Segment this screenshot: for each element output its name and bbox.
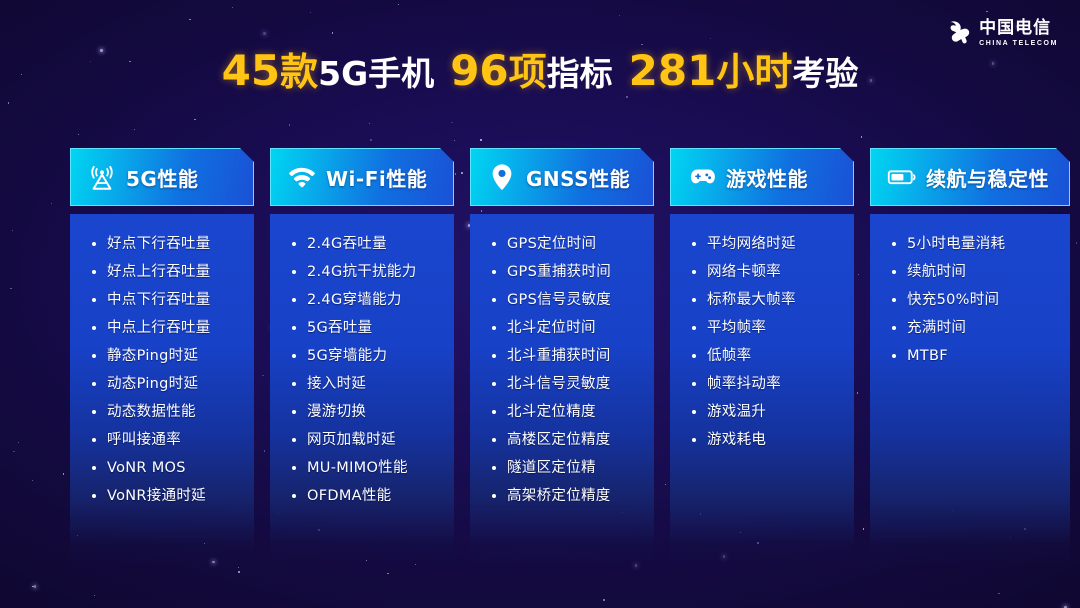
bullet-icon bbox=[92, 410, 96, 414]
star-decoration bbox=[189, 19, 190, 20]
bullet-icon bbox=[292, 270, 296, 274]
star-decoration bbox=[238, 567, 239, 568]
list-item-label: 北斗信号灵敏度 bbox=[507, 376, 611, 392]
star-decoration bbox=[78, 134, 79, 135]
star-decoration bbox=[51, 203, 52, 204]
list-item: MTBF bbox=[870, 348, 1070, 364]
star-decoration bbox=[263, 32, 265, 34]
bullet-icon bbox=[292, 298, 296, 302]
star-decoration bbox=[454, 140, 455, 141]
bullet-icon bbox=[692, 382, 696, 386]
list-item-label: 网页加载时延 bbox=[307, 432, 396, 448]
star-decoration bbox=[13, 451, 14, 452]
title-count-models: 45 bbox=[222, 46, 280, 95]
column-header-label: GNSS性能 bbox=[526, 163, 630, 192]
bullet-icon bbox=[692, 270, 696, 274]
column-body-5g: 好点下行吞吐量好点上行吞吐量中点下行吞吐量中点上行吞吐量静态Ping时延动态Pi… bbox=[70, 214, 254, 566]
list-item: 充满时间 bbox=[870, 320, 1070, 336]
slide-canvas: 中国电信 CHINA TELECOM 45款5G手机96项指标281小时考验 5… bbox=[0, 0, 1080, 608]
bullet-icon bbox=[692, 326, 696, 330]
column-header-label: 5G性能 bbox=[126, 163, 198, 192]
bullet-icon bbox=[492, 242, 496, 246]
category-column-battery: 续航与稳定性5小时电量消耗续航时间快充50%时间充满时间MTBF bbox=[870, 148, 1070, 566]
list-item-label: 动态Ping时延 bbox=[107, 376, 198, 392]
star-decoration bbox=[289, 124, 290, 125]
bullet-icon bbox=[692, 298, 696, 302]
list-item: 北斗定位时间 bbox=[470, 320, 654, 336]
list-item-label: GPS重捕获时间 bbox=[507, 264, 611, 280]
column-body-game: 平均网络时延网络卡顿率标称最大帧率平均帧率低帧率帧率抖动率游戏温升游戏耗电 bbox=[670, 214, 854, 566]
star-decoration bbox=[1076, 242, 1077, 243]
list-item: 2.4G吞吐量 bbox=[270, 236, 454, 252]
star-decoration bbox=[998, 593, 999, 594]
list-item: 平均帧率 bbox=[670, 320, 854, 336]
list-item: 5小时电量消耗 bbox=[870, 236, 1070, 252]
bullet-icon bbox=[892, 298, 896, 302]
star-decoration bbox=[370, 139, 371, 140]
bullet-icon bbox=[492, 494, 496, 498]
star-decoration bbox=[63, 473, 64, 474]
bullet-icon bbox=[292, 382, 296, 386]
list-item-label: MTBF bbox=[907, 348, 948, 364]
list-item: 续航时间 bbox=[870, 264, 1070, 280]
list-item-label: 5G穿墙能力 bbox=[307, 348, 387, 364]
star-decoration bbox=[34, 585, 36, 587]
category-column-game: 游戏性能平均网络时延网络卡顿率标称最大帧率平均帧率低帧率帧率抖动率游戏温升游戏耗… bbox=[670, 148, 854, 566]
bullet-icon bbox=[92, 438, 96, 442]
category-column-5g: 5G性能好点下行吞吐量好点上行吞吐量中点下行吞吐量中点上行吞吐量静态Ping时延… bbox=[70, 148, 254, 566]
title-label-test: 考验 bbox=[792, 54, 858, 93]
star-decoration bbox=[32, 586, 33, 587]
column-header-game[interactable]: 游戏性能 bbox=[670, 148, 854, 206]
list-item-label: VoNR接通时延 bbox=[107, 488, 206, 504]
list-item: 5G穿墙能力 bbox=[270, 348, 454, 364]
list-item-label: 北斗重捕获时间 bbox=[507, 348, 611, 364]
logo-wordmark: 中国电信 CHINA TELECOM bbox=[979, 20, 1058, 47]
list-item-label: GPS信号灵敏度 bbox=[507, 292, 611, 308]
list-item: 好点下行吞吐量 bbox=[70, 236, 254, 252]
list-item: OFDMA性能 bbox=[270, 488, 454, 504]
star-decoration bbox=[134, 129, 135, 130]
list-item: 2.4G穿墙能力 bbox=[270, 292, 454, 308]
bullet-icon bbox=[492, 298, 496, 302]
list-item: 平均网络时延 bbox=[670, 236, 854, 252]
list-item: VoNR接通时延 bbox=[70, 488, 254, 504]
list-item: VoNR MOS bbox=[70, 460, 254, 476]
list-item-label: 5G吞吐量 bbox=[307, 320, 372, 336]
list-item-label: 续航时间 bbox=[907, 264, 966, 280]
china-telecom-logo: 中国电信 CHINA TELECOM bbox=[946, 16, 1058, 50]
star-decoration bbox=[369, 123, 370, 124]
list-item: 北斗定位精度 bbox=[470, 404, 654, 420]
list-item: 高架桥定位精度 bbox=[470, 488, 654, 504]
star-decoration bbox=[18, 442, 19, 443]
list-item: MU-MIMO性能 bbox=[270, 460, 454, 476]
list-item-label: 5小时电量消耗 bbox=[907, 236, 1005, 252]
cell-tower-signal-icon bbox=[87, 162, 117, 192]
column-header-label: 续航与稳定性 bbox=[926, 163, 1049, 192]
list-item: 高楼区定位精度 bbox=[470, 432, 654, 448]
star-decoration bbox=[451, 122, 452, 123]
column-header-battery[interactable]: 续航与稳定性 bbox=[870, 148, 1070, 206]
bullet-icon bbox=[692, 410, 696, 414]
star-decoration bbox=[10, 288, 11, 289]
bullet-icon bbox=[92, 382, 96, 386]
list-item-label: 2.4G吞吐量 bbox=[307, 236, 387, 252]
bullet-icon bbox=[92, 494, 96, 498]
list-item: GPS重捕获时间 bbox=[470, 264, 654, 280]
bullet-icon bbox=[292, 466, 296, 470]
column-body-battery: 5小时电量消耗续航时间快充50%时间充满时间MTBF bbox=[870, 214, 1070, 566]
category-columns: 5G性能好点下行吞吐量好点上行吞吐量中点下行吞吐量中点上行吞吐量静态Ping时延… bbox=[70, 148, 1070, 566]
star-decoration bbox=[619, 15, 620, 16]
bullet-icon bbox=[892, 326, 896, 330]
star-decoration bbox=[480, 139, 481, 140]
list-item-label: 好点上行吞吐量 bbox=[107, 264, 211, 280]
gamepad-icon bbox=[687, 162, 717, 192]
list-item: 漫游切换 bbox=[270, 404, 454, 420]
star-decoration bbox=[8, 102, 9, 103]
list-item-label: 2.4G穿墙能力 bbox=[307, 292, 402, 308]
list-item: 游戏耗电 bbox=[670, 432, 854, 448]
column-header-gnss[interactable]: GNSS性能 bbox=[470, 148, 654, 206]
category-column-gnss: GNSS性能GPS定位时间GPS重捕获时间GPS信号灵敏度北斗定位时间北斗重捕获… bbox=[470, 148, 654, 566]
title-label-metrics: 指标 bbox=[547, 54, 613, 93]
star-decoration bbox=[986, 11, 987, 12]
list-item: 5G吞吐量 bbox=[270, 320, 454, 336]
bullet-icon bbox=[92, 270, 96, 274]
title-count-hours: 281 bbox=[629, 46, 717, 95]
wifi-icon bbox=[287, 162, 317, 192]
category-column-wifi: Wi-Fi性能2.4G吞吐量2.4G抗干扰能力2.4G穿墙能力5G吞吐量5G穿墙… bbox=[270, 148, 454, 566]
list-item: 低帧率 bbox=[670, 348, 854, 364]
logo-name-cn: 中国电信 bbox=[979, 20, 1058, 37]
bullet-icon bbox=[892, 270, 896, 274]
star-decoration bbox=[194, 119, 195, 120]
list-item-label: 充满时间 bbox=[907, 320, 966, 336]
list-item-label: 平均帧率 bbox=[707, 320, 766, 336]
list-item-label: 接入时延 bbox=[307, 376, 366, 392]
list-item-label: OFDMA性能 bbox=[307, 488, 391, 504]
bullet-icon bbox=[92, 354, 96, 358]
title-unit-metrics: 项 bbox=[509, 50, 547, 94]
title-unit-models: 款 bbox=[280, 50, 318, 94]
list-item-label: 帧率抖动率 bbox=[707, 376, 781, 392]
star-decoration bbox=[603, 599, 604, 600]
bullet-icon bbox=[292, 354, 296, 358]
bullet-icon bbox=[692, 354, 696, 358]
list-item-label: 标称最大帧率 bbox=[707, 292, 796, 308]
bullet-icon bbox=[492, 466, 496, 470]
list-item: 隧道区定位精 bbox=[470, 460, 654, 476]
star-decoration bbox=[310, 12, 311, 13]
list-item-label: 静态Ping时延 bbox=[107, 348, 198, 364]
star-decoration bbox=[387, 573, 388, 574]
china-telecom-logo-icon bbox=[946, 19, 972, 47]
list-item-label: 游戏温升 bbox=[707, 404, 766, 420]
list-item: 动态Ping时延 bbox=[70, 376, 254, 392]
title-label-phones: 5G手机 bbox=[318, 54, 434, 93]
list-item: 标称最大帧率 bbox=[670, 292, 854, 308]
column-header-label: Wi-Fi性能 bbox=[326, 163, 427, 192]
list-item: GPS定位时间 bbox=[470, 236, 654, 252]
list-item-label: 隧道区定位精 bbox=[507, 460, 596, 476]
list-item-label: VoNR MOS bbox=[107, 460, 186, 476]
bullet-icon bbox=[92, 326, 96, 330]
list-item-label: 中点上行吞吐量 bbox=[107, 320, 211, 336]
bullet-icon bbox=[92, 298, 96, 302]
bullet-icon bbox=[492, 410, 496, 414]
column-header-wifi[interactable]: Wi-Fi性能 bbox=[270, 148, 454, 206]
list-item-label: 动态数据性能 bbox=[107, 404, 196, 420]
list-item-label: 呼叫接通率 bbox=[107, 432, 181, 448]
column-body-gnss: GPS定位时间GPS重捕获时间GPS信号灵敏度北斗定位时间北斗重捕获时间北斗信号… bbox=[470, 214, 654, 566]
list-item: 接入时延 bbox=[270, 376, 454, 392]
list-item-label: 好点下行吞吐量 bbox=[107, 236, 211, 252]
list-item-label: 2.4G抗干扰能力 bbox=[307, 264, 417, 280]
list-item: GPS信号灵敏度 bbox=[470, 292, 654, 308]
list-item: 网络卡顿率 bbox=[670, 264, 854, 280]
list-item: 网页加载时延 bbox=[270, 432, 454, 448]
logo-name-en: CHINA TELECOM bbox=[979, 40, 1058, 47]
bullet-icon bbox=[692, 438, 696, 442]
bullet-icon bbox=[292, 494, 296, 498]
list-item: 中点下行吞吐量 bbox=[70, 292, 254, 308]
bullet-icon bbox=[492, 270, 496, 274]
location-pin-icon bbox=[487, 162, 517, 192]
star-decoration bbox=[12, 230, 13, 231]
list-item: 呼叫接通率 bbox=[70, 432, 254, 448]
bullet-icon bbox=[492, 354, 496, 358]
list-item-label: 北斗定位时间 bbox=[507, 320, 596, 336]
list-item: 北斗重捕获时间 bbox=[470, 348, 654, 364]
star-decoration bbox=[861, 136, 862, 137]
star-decoration bbox=[398, 4, 399, 5]
list-item-label: 游戏耗电 bbox=[707, 432, 766, 448]
title-count-metrics: 96 bbox=[450, 46, 508, 95]
list-item: 2.4G抗干扰能力 bbox=[270, 264, 454, 280]
star-decoration bbox=[94, 595, 95, 596]
column-header-5g[interactable]: 5G性能 bbox=[70, 148, 254, 206]
list-item: 北斗信号灵敏度 bbox=[470, 376, 654, 392]
bullet-icon bbox=[92, 466, 96, 470]
list-item-label: 快充50%时间 bbox=[907, 292, 999, 308]
list-item: 动态数据性能 bbox=[70, 404, 254, 420]
list-item-label: 漫游切换 bbox=[307, 404, 366, 420]
column-header-label: 游戏性能 bbox=[726, 163, 808, 192]
battery-icon bbox=[887, 162, 917, 192]
star-decoration bbox=[710, 38, 711, 39]
list-item: 帧率抖动率 bbox=[670, 376, 854, 392]
bullet-icon bbox=[492, 326, 496, 330]
list-item-label: 中点下行吞吐量 bbox=[107, 292, 211, 308]
bullet-icon bbox=[92, 242, 96, 246]
star-decoration bbox=[332, 32, 333, 33]
bullet-icon bbox=[492, 438, 496, 442]
list-item-label: GPS定位时间 bbox=[507, 236, 596, 252]
star-decoration bbox=[32, 480, 33, 481]
title-unit-hours: 小时 bbox=[716, 50, 792, 94]
bullet-icon bbox=[892, 242, 896, 246]
star-decoration bbox=[232, 7, 233, 8]
list-item-label: 平均网络时延 bbox=[707, 236, 796, 252]
bullet-icon bbox=[492, 382, 496, 386]
list-item: 游戏温升 bbox=[670, 404, 854, 420]
list-item-label: 高架桥定位精度 bbox=[507, 488, 611, 504]
bullet-icon bbox=[292, 326, 296, 330]
list-item: 中点上行吞吐量 bbox=[70, 320, 254, 336]
star-decoration bbox=[238, 571, 239, 572]
list-item: 快充50%时间 bbox=[870, 292, 1070, 308]
list-item: 静态Ping时延 bbox=[70, 348, 254, 364]
slide-title: 45款5G手机96项指标281小时考验 bbox=[0, 48, 1080, 97]
list-item-label: MU-MIMO性能 bbox=[307, 460, 408, 476]
list-item-label: 高楼区定位精度 bbox=[507, 432, 611, 448]
list-item-label: 低帧率 bbox=[707, 348, 751, 364]
bullet-icon bbox=[292, 410, 296, 414]
list-item: 好点上行吞吐量 bbox=[70, 264, 254, 280]
column-body-wifi: 2.4G吞吐量2.4G抗干扰能力2.4G穿墙能力5G吞吐量5G穿墙能力接入时延漫… bbox=[270, 214, 454, 566]
list-item-label: 网络卡顿率 bbox=[707, 264, 781, 280]
bullet-icon bbox=[692, 242, 696, 246]
bullet-icon bbox=[892, 354, 896, 358]
bullet-icon bbox=[292, 242, 296, 246]
list-item-label: 北斗定位精度 bbox=[507, 404, 596, 420]
bullet-icon bbox=[292, 438, 296, 442]
